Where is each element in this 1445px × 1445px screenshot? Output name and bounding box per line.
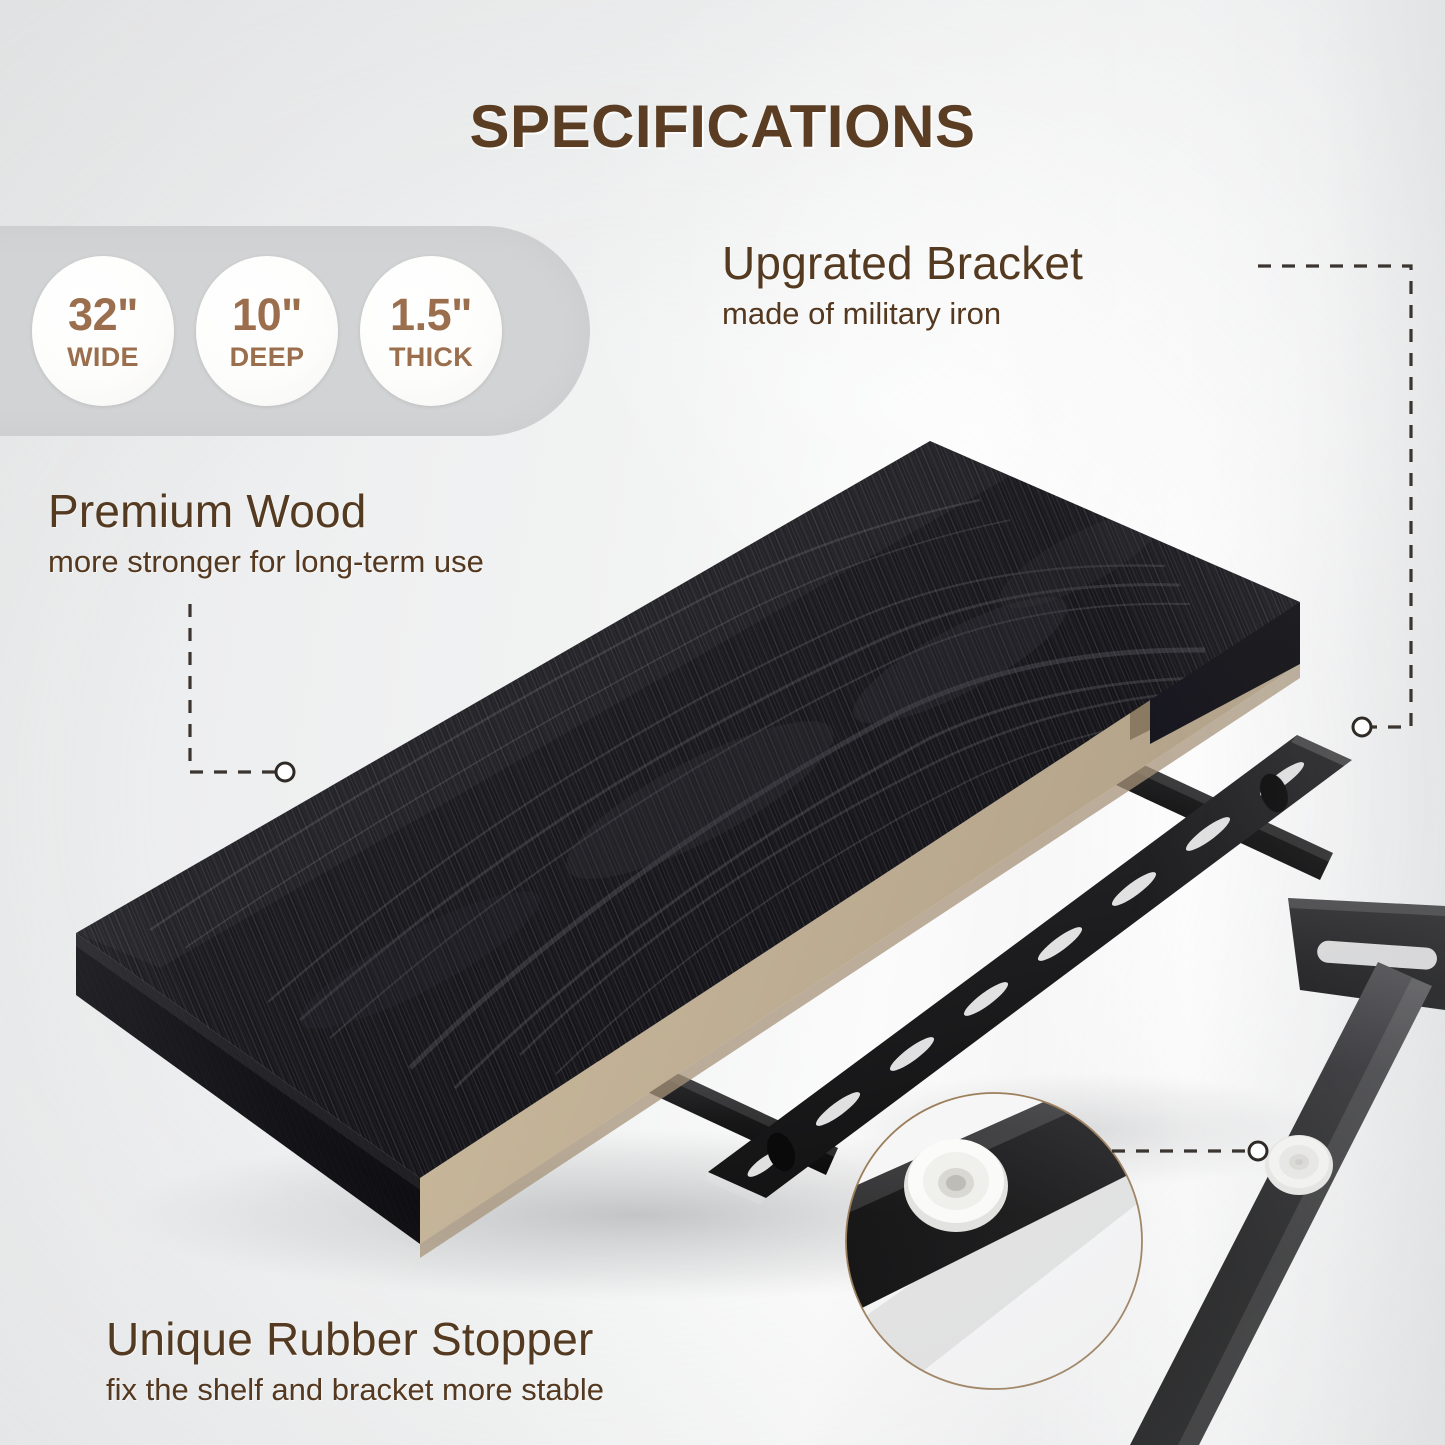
rubber-stopper-on-second-bracket [1265, 1135, 1333, 1195]
callout-upgraded-bracket: Upgrated Bracket made of military iron [722, 236, 1083, 332]
page-title: SPECIFICATIONS [0, 92, 1445, 161]
spec-badge-width-value: 32" [68, 292, 138, 337]
callout-stopper-title: Unique Rubber Stopper [106, 1312, 604, 1366]
spec-badge-depth: 10" DEEP [196, 256, 338, 406]
spec-badge-depth-value: 10" [232, 292, 302, 337]
spec-badge-width-label: WIDE [67, 344, 139, 371]
callout-premium-wood: Premium Wood more stronger for long-term… [48, 484, 484, 580]
spec-badge-thickness: 1.5" THICK [360, 256, 502, 406]
callout-wood-title: Premium Wood [48, 484, 484, 538]
callout-bracket-subtitle: made of military iron [722, 296, 1083, 332]
spec-badge-thickness-value: 1.5" [390, 292, 472, 337]
spec-badge-depth-label: DEEP [230, 344, 305, 371]
product-photo [0, 0, 1445, 1445]
callout-bracket-title: Upgrated Bracket [722, 236, 1083, 290]
spec-badges: 32" WIDE 10" DEEP 1.5" THICK [32, 256, 502, 406]
product-spec-infographic: SPECIFICATIONS 32" WIDE 10" DEEP 1.5" TH… [0, 0, 1445, 1445]
spec-badge-thickness-label: THICK [389, 344, 473, 371]
spec-badge-width: 32" WIDE [32, 256, 174, 406]
callout-stopper-subtitle: fix the shelf and bracket more stable [106, 1372, 604, 1408]
callout-rubber-stopper: Unique Rubber Stopper fix the shelf and … [106, 1312, 604, 1408]
callout-wood-subtitle: more stronger for long-term use [48, 544, 484, 580]
